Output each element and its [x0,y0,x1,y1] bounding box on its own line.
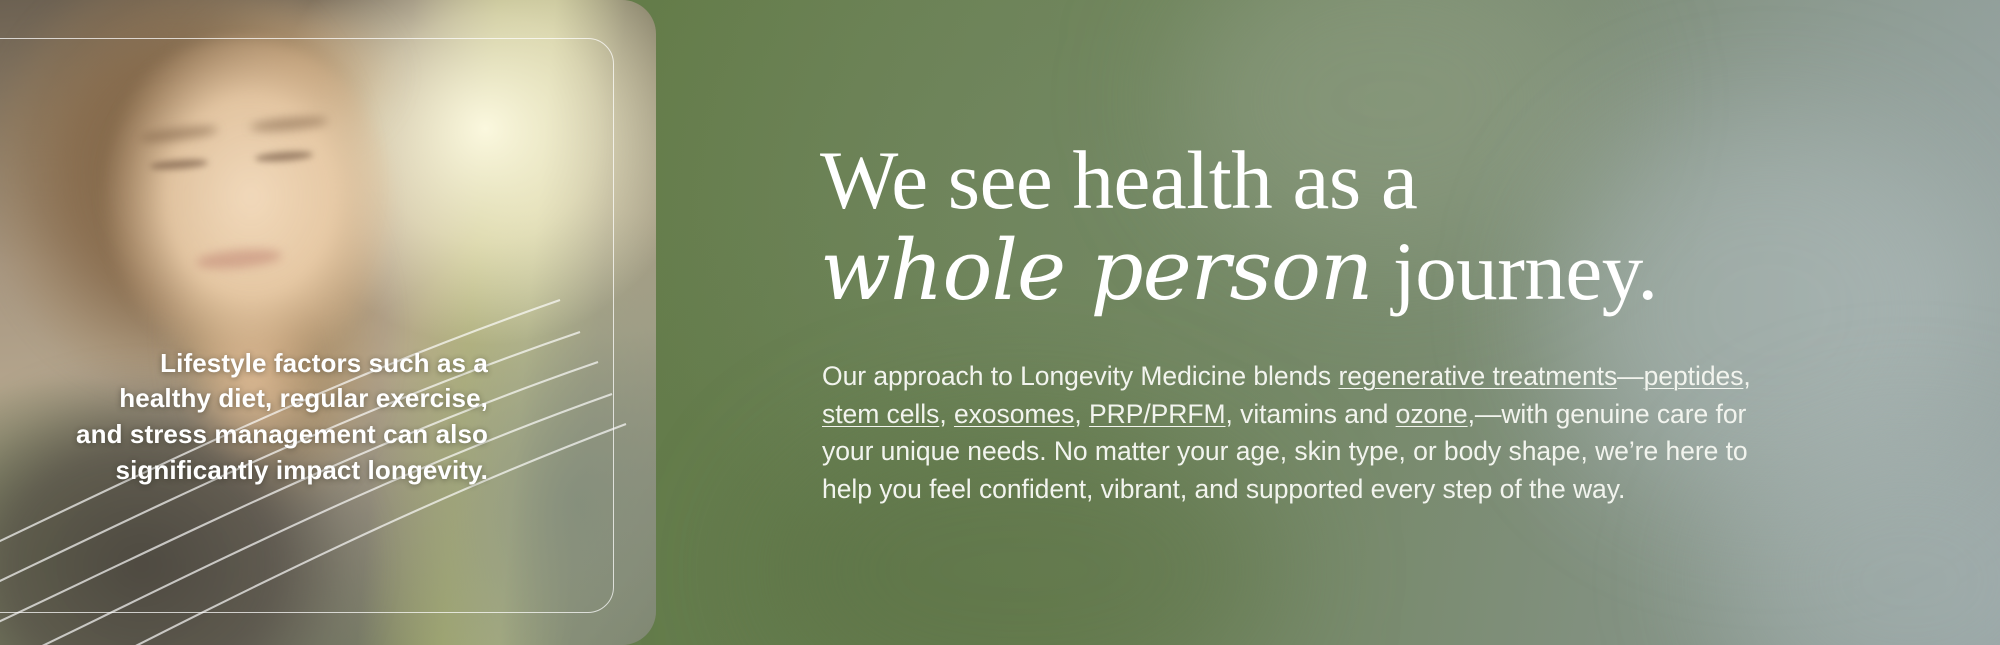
link-regenerative-treatments[interactable]: regenerative treatments [1338,361,1617,391]
link-ozone[interactable]: ozone [1396,399,1468,429]
headline-line-2: whole person journey. [820,229,1820,314]
headline-emphasis: whole person [820,222,1372,319]
page-title: We see health as a whole person journey. [820,138,1820,313]
photo-caption: Lifestyle factors such as a healthy diet… [68,346,488,490]
hero-photo-image [0,0,656,645]
hero-section: Lifestyle factors such as a healthy diet… [0,0,2000,645]
hero-photo-panel: Lifestyle factors such as a healthy diet… [0,0,656,645]
link-prp-prfm[interactable]: PRP/PRFM [1089,399,1226,429]
link-peptides[interactable]: peptides [1644,361,1744,391]
body-text-segment-4: , [939,399,954,429]
headline-line-1: We see health as a [820,134,1417,226]
headline-line-2-rest: journey. [1372,225,1657,317]
hero-content: We see health as a whole person journey.… [820,0,1820,645]
link-stem-cells[interactable]: stem cells [822,399,939,429]
body-text-segment-2: — [1617,361,1643,391]
hero-body-paragraph: Our approach to Longevity Medicine blend… [822,358,1802,509]
body-text-segment-3: , [1743,361,1750,391]
body-text-segment-1: Our approach to Longevity Medicine blend… [822,361,1338,391]
body-text-segment-5: , [1074,399,1089,429]
link-exosomes[interactable]: exosomes [954,399,1074,429]
body-text-segment-6: , vitamins and [1226,399,1396,429]
